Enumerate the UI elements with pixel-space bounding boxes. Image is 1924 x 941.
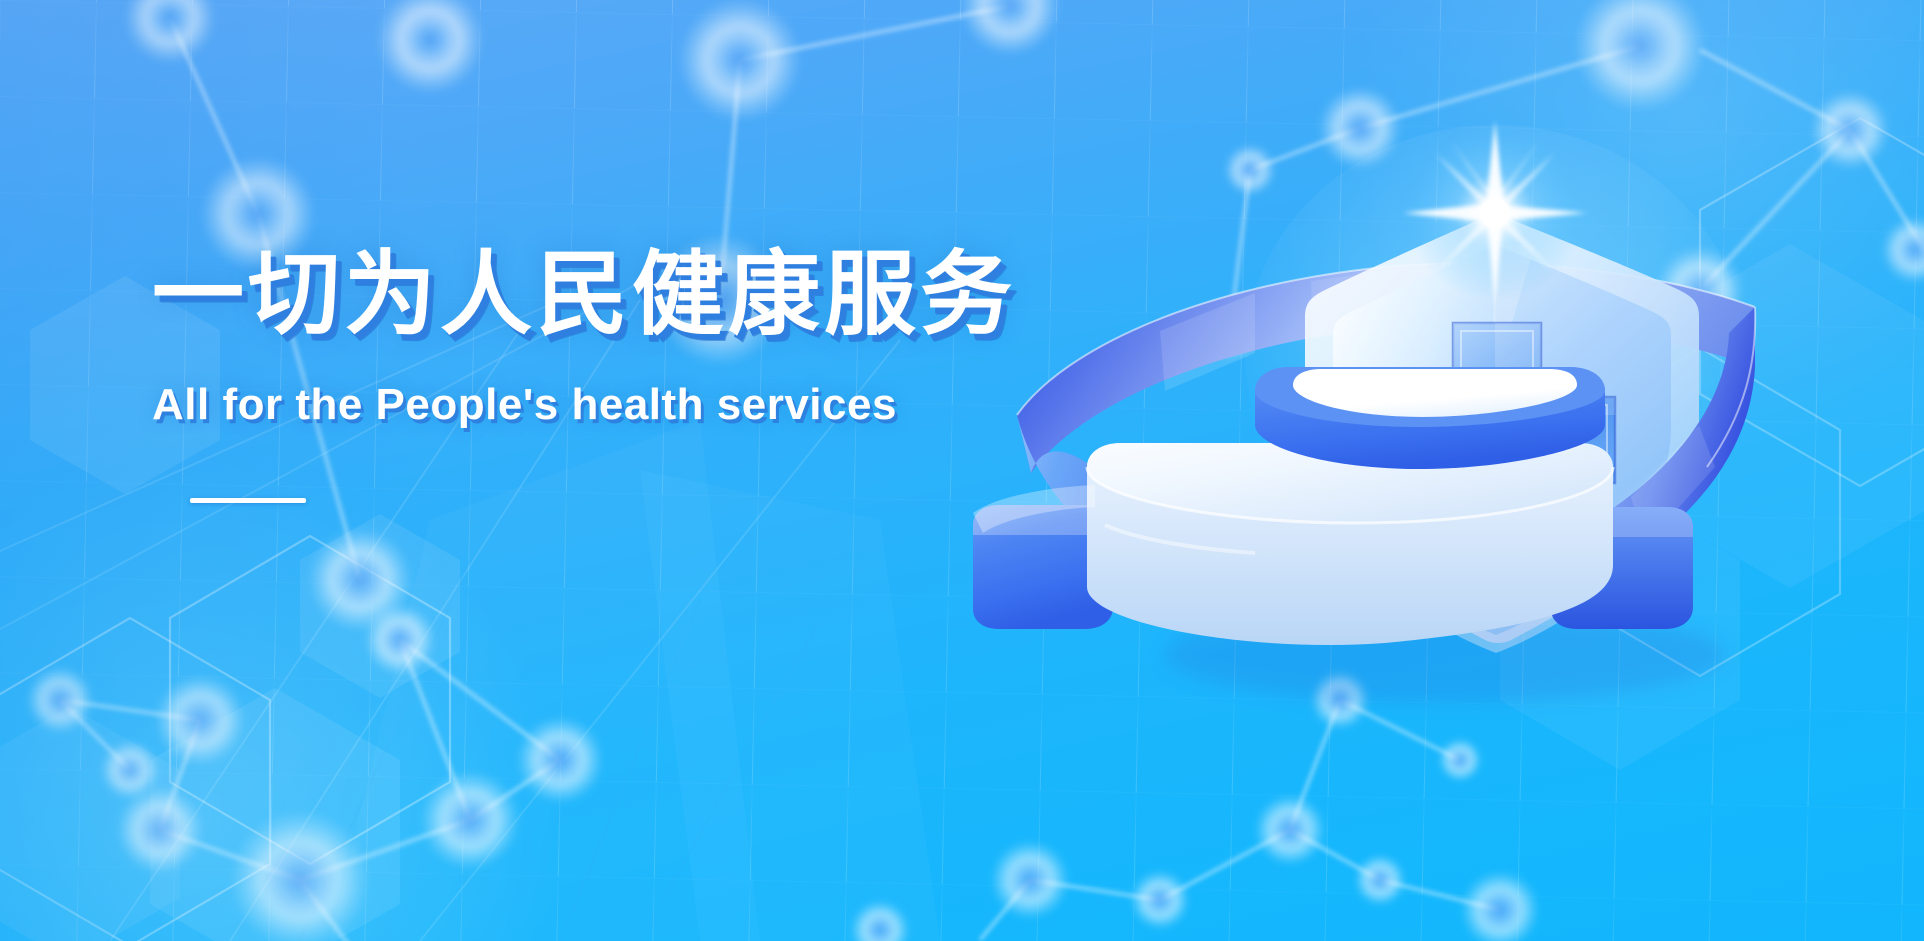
divider-rule: [190, 498, 306, 503]
headline-block: 一切为人民健康服务 All for the People's health se…: [152, 246, 1052, 503]
headline-chinese: 一切为人民健康服务: [152, 246, 1052, 345]
headline-english: All for the People's health services: [152, 381, 1052, 429]
shield-illustration: [955, 95, 1835, 695]
health-banner: 一切为人民健康服务 All for the People's health se…: [0, 0, 1924, 941]
